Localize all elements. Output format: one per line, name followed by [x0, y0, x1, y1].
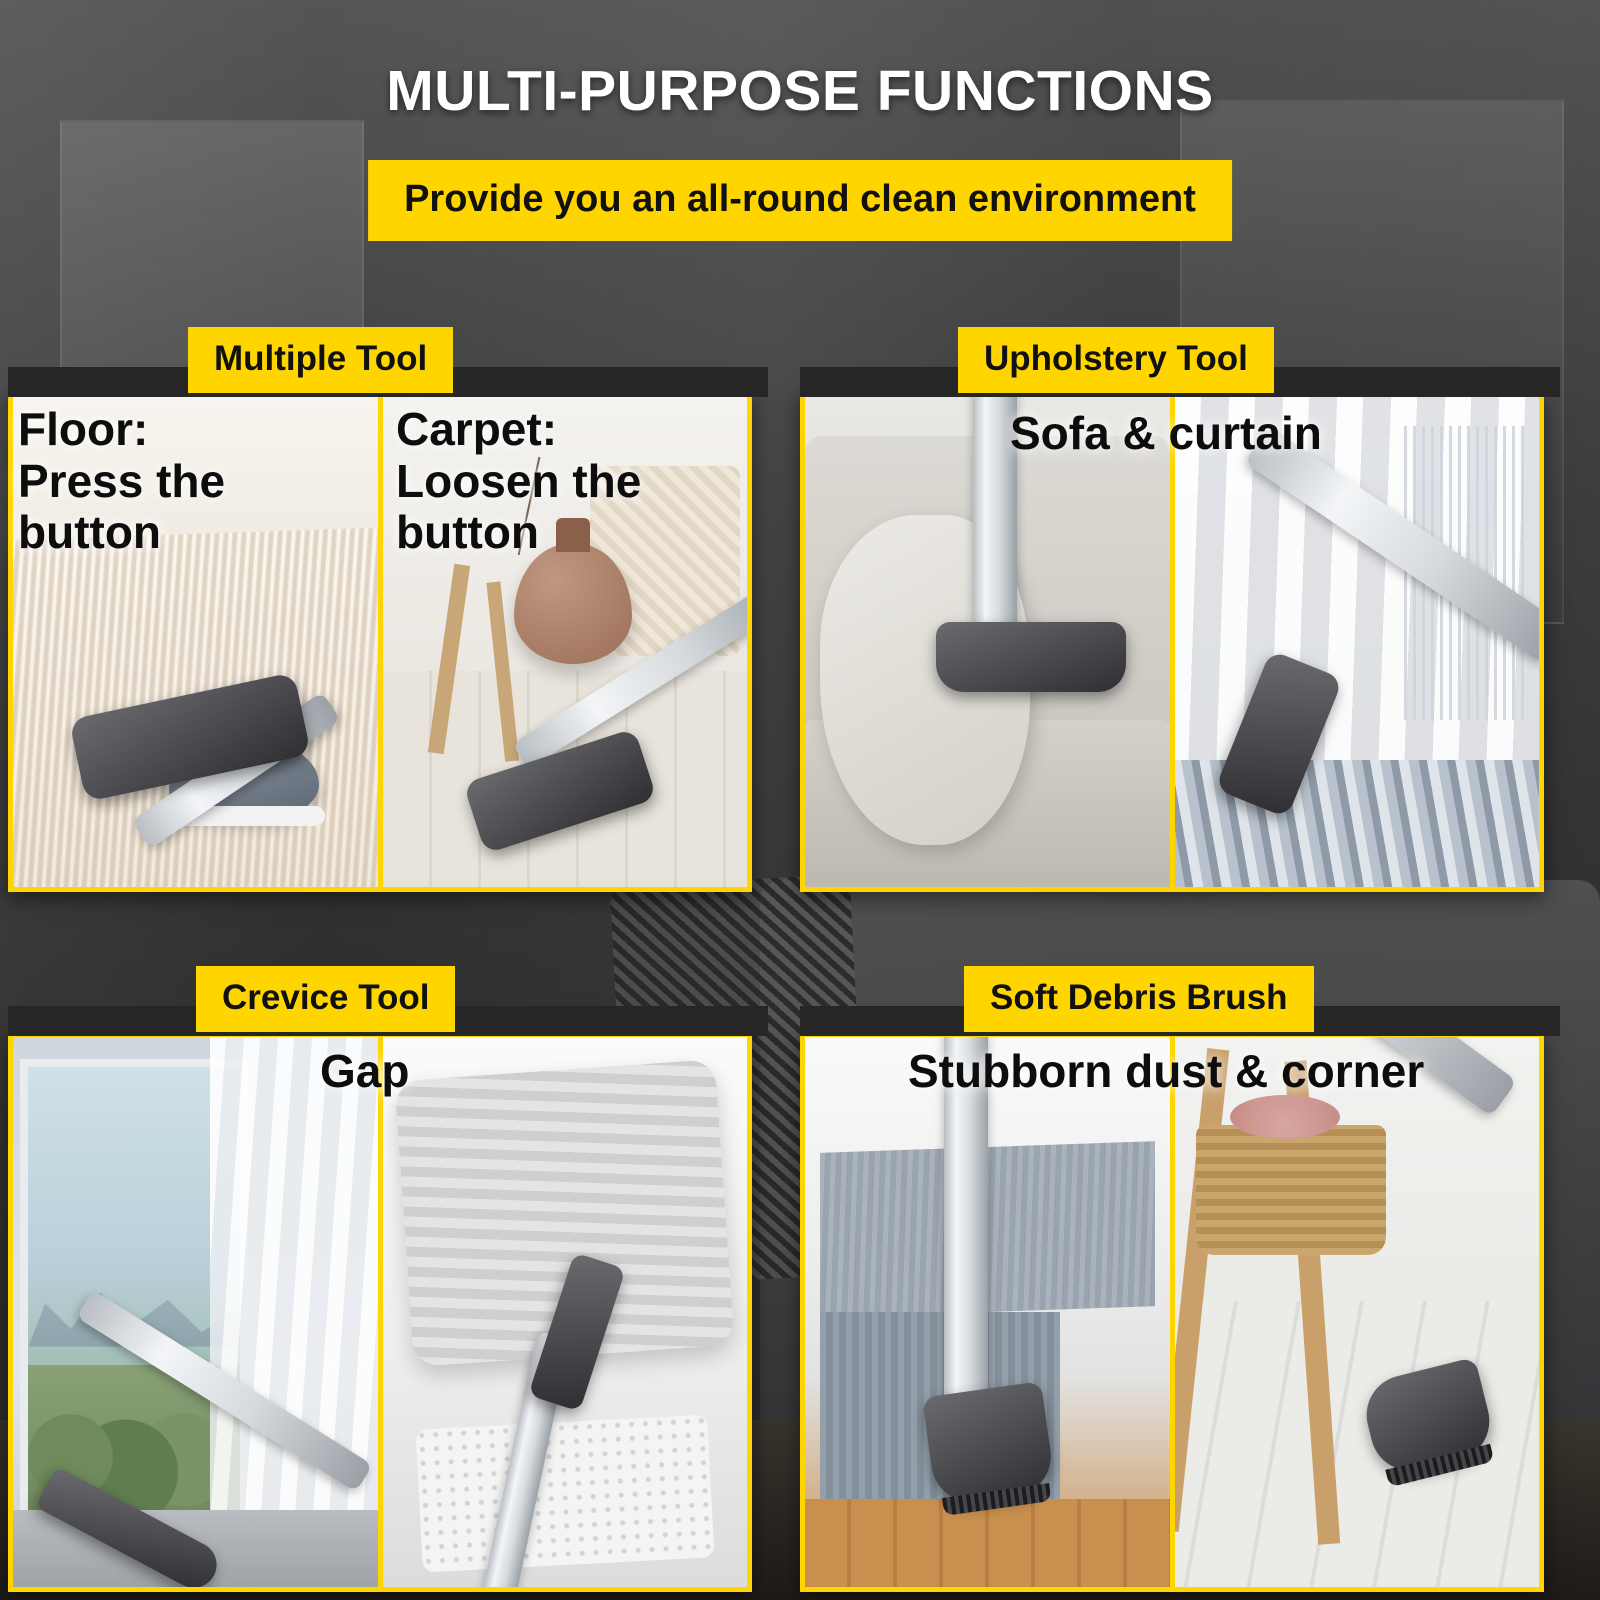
scene-vent-grille-cleaning: [378, 1037, 748, 1587]
scene-tile-corner-cleaning: [1170, 1037, 1540, 1587]
caption-sofa-curtain: Sofa & curtain: [1010, 408, 1322, 460]
caption-stubborn-dust: Stubborn dust & corner: [908, 1046, 1424, 1098]
panel-soft-debris-brush: [800, 1032, 1544, 1592]
soft-brush-head-icon: [922, 1381, 1056, 1507]
panel-label-multiple-tool: Multiple Tool: [188, 327, 453, 393]
scene-sofa-cleaning: [805, 397, 1170, 887]
upholstery-tool-head-icon: [936, 622, 1126, 692]
caption-floor-line3: button: [18, 506, 161, 558]
scene-window-gap-cleaning: [13, 1037, 378, 1587]
panel-label-crevice-tool: Crevice Tool: [196, 966, 455, 1032]
panel-label-soft-debris-brush: Soft Debris Brush: [964, 966, 1314, 1032]
caption-carpet-line2: Loosen the: [396, 455, 641, 507]
caption-gap: Gap: [320, 1046, 409, 1098]
scene-curtain-cleaning: [1170, 397, 1540, 887]
caption-floor: Floor: Press the button: [18, 404, 225, 559]
panel-label-upholstery-tool: Upholstery Tool: [958, 327, 1274, 393]
caption-floor-line2: Press the: [18, 455, 225, 507]
subtitle-text: Provide you an all-round clean environme…: [368, 160, 1232, 241]
panel-upholstery-tool: [800, 392, 1544, 892]
product-feature-poster: MULTI-PURPOSE FUNCTIONS Provide you an a…: [0, 0, 1600, 1600]
caption-carpet: Carpet: Loosen the button: [396, 404, 641, 559]
panel-crevice-tool: [8, 1032, 752, 1592]
scene-stone-step-cleaning: [805, 1037, 1170, 1587]
page-title: MULTI-PURPOSE FUNCTIONS: [0, 58, 1600, 124]
caption-floor-line1: Floor:: [18, 403, 148, 455]
caption-carpet-line1: Carpet:: [396, 403, 557, 455]
caption-carpet-line3: button: [396, 506, 539, 558]
subtitle-banner: Provide you an all-round clean environme…: [368, 160, 1232, 241]
